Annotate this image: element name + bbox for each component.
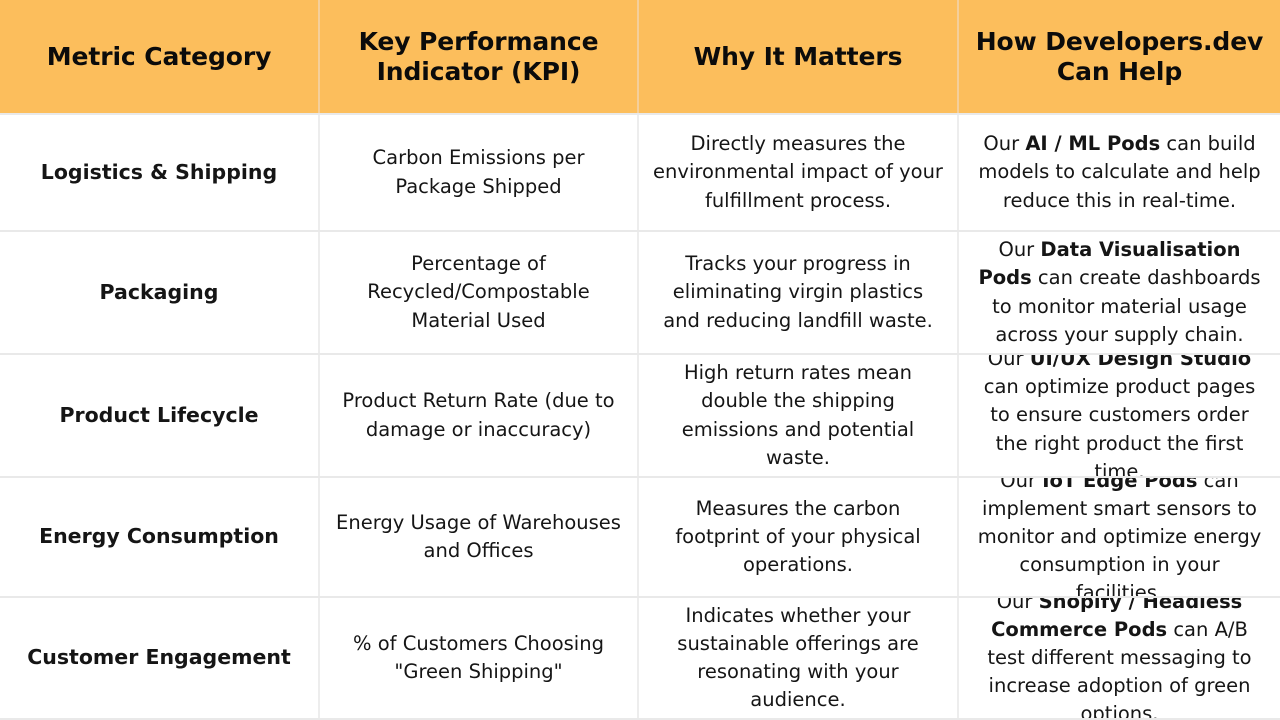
column-header-label: Key Performance Indicator (KPI) bbox=[334, 27, 623, 86]
why-it-matters-label: Directly measures the environmental impa… bbox=[653, 130, 943, 214]
why-it-matters-label: High return rates mean double the shippi… bbox=[653, 359, 943, 471]
column-header-how-developers-dev-can-help: How Developers.dev Can Help bbox=[959, 0, 1280, 113]
kpi-label: Product Return Rate (due to damage or in… bbox=[334, 387, 623, 443]
how-we-help-text: Our UI/UX Design Studio can optimize pro… bbox=[973, 355, 1266, 476]
help-highlight: IoT Edge Pods bbox=[1042, 478, 1197, 492]
metric-category-label: Energy Consumption bbox=[39, 522, 279, 552]
kpi-label: Percentage of Recycled/Compostable Mater… bbox=[334, 250, 623, 334]
help-suffix: can implement smart sensors to monitor a… bbox=[978, 478, 1262, 596]
help-prefix: Our bbox=[998, 238, 1040, 261]
column-header-label: How Developers.dev Can Help bbox=[973, 27, 1266, 86]
cell-how-we-help: Our Shopify / Headless Commerce Pods can… bbox=[959, 598, 1280, 718]
metrics-table: Metric Category Key Performance Indicato… bbox=[0, 0, 1280, 720]
metric-category-label: Customer Engagement bbox=[27, 643, 291, 673]
help-prefix: Our bbox=[988, 355, 1030, 370]
cell-why-it-matters: High return rates mean double the shippi… bbox=[639, 355, 959, 476]
column-header-metric-category: Metric Category bbox=[0, 0, 320, 113]
help-highlight: AI / ML Pods bbox=[1025, 132, 1160, 155]
metric-category-label: Packaging bbox=[100, 278, 219, 308]
cell-metric-category: Product Lifecycle bbox=[0, 355, 320, 476]
help-highlight: UI/UX Design Studio bbox=[1030, 355, 1252, 370]
cell-kpi: Percentage of Recycled/Compostable Mater… bbox=[320, 232, 639, 353]
how-we-help-text: Our Shopify / Headless Commerce Pods can… bbox=[973, 598, 1266, 718]
metric-category-label: Logistics & Shipping bbox=[41, 158, 277, 188]
kpi-label: Carbon Emissions per Package Shipped bbox=[334, 144, 623, 200]
why-it-matters-label: Tracks your progress in eliminating virg… bbox=[653, 250, 943, 334]
cell-metric-category: Logistics & Shipping bbox=[0, 115, 320, 230]
help-suffix: can create dashboards to monitor materia… bbox=[992, 266, 1260, 345]
help-prefix: Our bbox=[997, 598, 1039, 613]
cell-kpi: Energy Usage of Warehouses and Offices bbox=[320, 478, 639, 596]
help-prefix: Our bbox=[983, 132, 1025, 155]
cell-why-it-matters: Directly measures the environmental impa… bbox=[639, 115, 959, 230]
cell-how-we-help: Our AI / ML Pods can build models to cal… bbox=[959, 115, 1280, 230]
cell-why-it-matters: Tracks your progress in eliminating virg… bbox=[639, 232, 959, 353]
how-we-help-text: Our AI / ML Pods can build models to cal… bbox=[973, 130, 1266, 214]
cell-how-we-help: Our Data Visualisation Pods can create d… bbox=[959, 232, 1280, 353]
column-header-label: Metric Category bbox=[47, 42, 272, 72]
table-row: Customer Engagement % of Customers Choos… bbox=[0, 596, 1280, 718]
table-row: Packaging Percentage of Recycled/Compost… bbox=[0, 230, 1280, 353]
table-row: Product Lifecycle Product Return Rate (d… bbox=[0, 353, 1280, 476]
cell-metric-category: Customer Engagement bbox=[0, 598, 320, 718]
cell-kpi: Product Return Rate (due to damage or in… bbox=[320, 355, 639, 476]
cell-metric-category: Packaging bbox=[0, 232, 320, 353]
cell-kpi: % of Customers Choosing "Green Shipping" bbox=[320, 598, 639, 718]
why-it-matters-label: Indicates whether your sustainable offer… bbox=[653, 602, 943, 714]
column-header-why-it-matters: Why It Matters bbox=[639, 0, 959, 113]
table-header-row: Metric Category Key Performance Indicato… bbox=[0, 0, 1280, 113]
table-row: Energy Consumption Energy Usage of Wareh… bbox=[0, 476, 1280, 596]
cell-why-it-matters: Indicates whether your sustainable offer… bbox=[639, 598, 959, 718]
cell-how-we-help: Our IoT Edge Pods can implement smart se… bbox=[959, 478, 1280, 596]
cell-kpi: Carbon Emissions per Package Shipped bbox=[320, 115, 639, 230]
column-header-label: Why It Matters bbox=[694, 42, 903, 72]
cell-how-we-help: Our UI/UX Design Studio can optimize pro… bbox=[959, 355, 1280, 476]
column-header-kpi: Key Performance Indicator (KPI) bbox=[320, 0, 639, 113]
cell-why-it-matters: Measures the carbon footprint of your ph… bbox=[639, 478, 959, 596]
metric-category-label: Product Lifecycle bbox=[59, 401, 258, 431]
help-suffix: can optimize product pages to ensure cus… bbox=[984, 375, 1256, 476]
kpi-label: % of Customers Choosing "Green Shipping" bbox=[334, 630, 623, 686]
how-we-help-text: Our IoT Edge Pods can implement smart se… bbox=[973, 478, 1266, 596]
kpi-label: Energy Usage of Warehouses and Offices bbox=[334, 509, 623, 565]
table-row: Logistics & Shipping Carbon Emissions pe… bbox=[0, 113, 1280, 230]
how-we-help-text: Our Data Visualisation Pods can create d… bbox=[973, 236, 1266, 348]
cell-metric-category: Energy Consumption bbox=[0, 478, 320, 596]
help-prefix: Our bbox=[1000, 478, 1042, 492]
why-it-matters-label: Measures the carbon footprint of your ph… bbox=[653, 495, 943, 579]
